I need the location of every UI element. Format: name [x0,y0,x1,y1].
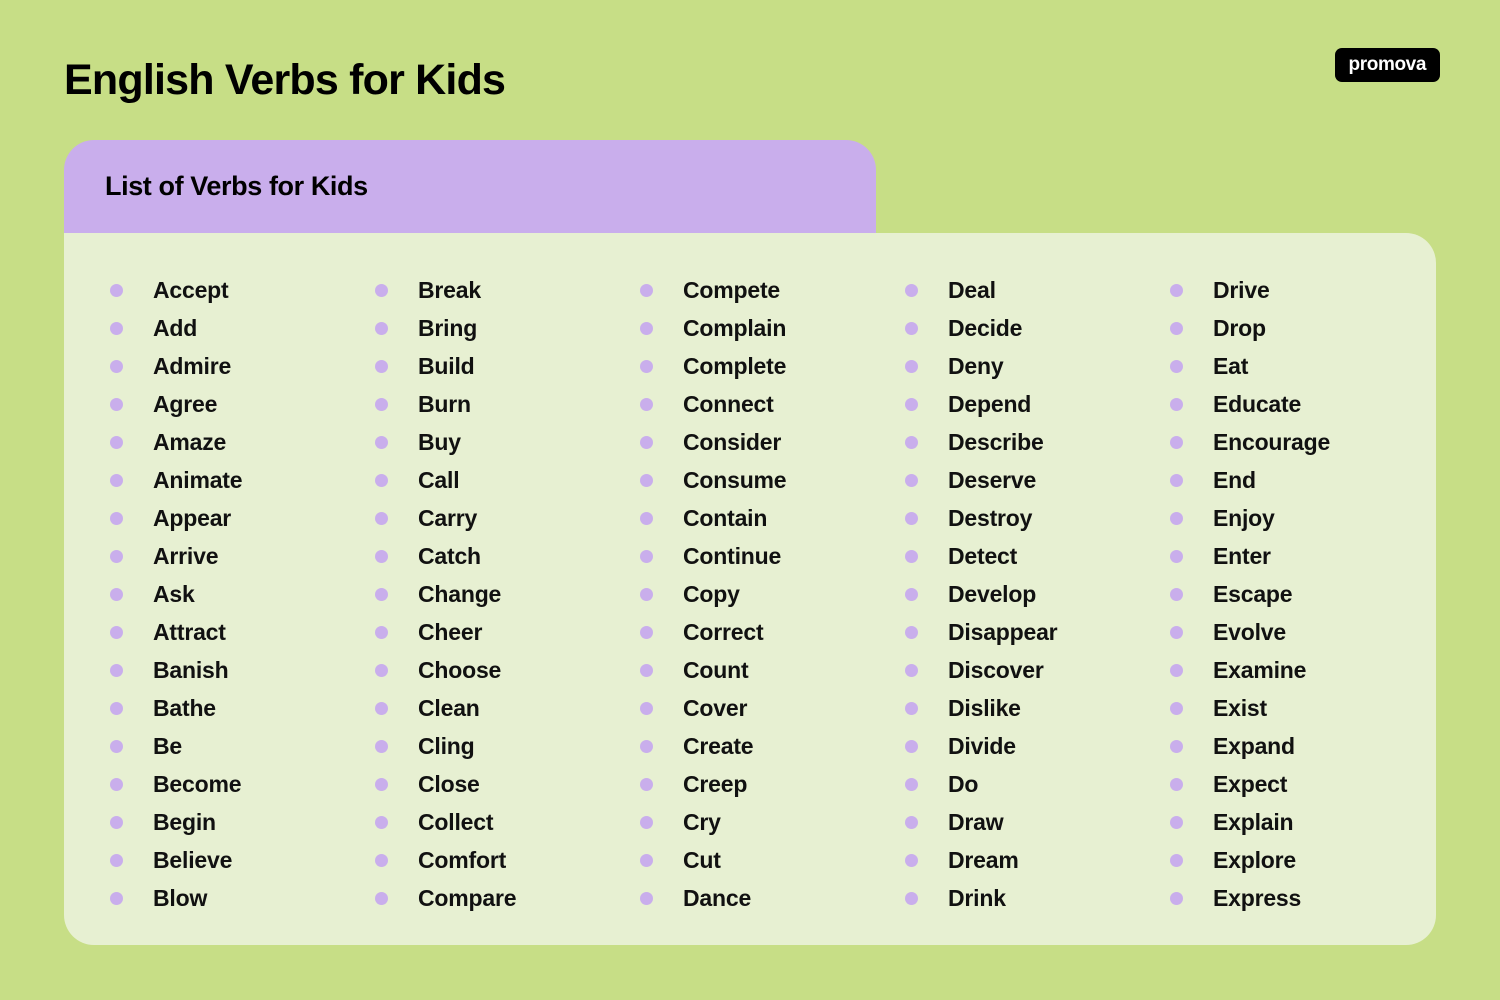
verb-list-item: Begin [110,803,375,841]
bullet-icon [1170,626,1183,639]
verb-label: Agree [153,393,217,416]
bullet-icon [640,284,653,297]
verb-list-item: Clean [375,689,640,727]
verb-label: Complain [683,317,786,340]
logo-text: promova [1349,54,1426,75]
verb-list-item: Complain [640,309,905,347]
bullet-icon [375,436,388,449]
verb-label: Connect [683,393,774,416]
verb-list-item: Arrive [110,537,375,575]
bullet-icon [905,740,918,753]
verb-label: Correct [683,621,763,644]
verb-list-item: Educate [1170,385,1435,423]
bullet-icon [375,702,388,715]
bullet-icon [1170,854,1183,867]
verb-list-item: Become [110,765,375,803]
verb-label: Attract [153,621,226,644]
bullet-icon [1170,740,1183,753]
verb-list-item: Cheer [375,613,640,651]
verb-label: Continue [683,545,781,568]
verb-list-item: Cling [375,727,640,765]
bullet-icon [110,322,123,335]
bullet-icon [905,854,918,867]
verb-label: Develop [948,583,1036,606]
verb-list-item: Catch [375,537,640,575]
verb-label: Build [418,355,475,378]
verb-label: Dance [683,887,751,910]
verb-list-item: Complete [640,347,905,385]
verb-label: Compare [418,887,516,910]
bullet-icon [905,588,918,601]
bullet-icon [640,892,653,905]
verb-label: Educate [1213,393,1301,416]
verb-list-item: Choose [375,651,640,689]
bullet-icon [640,550,653,563]
verb-label: Arrive [153,545,218,568]
verb-list-item: Depend [905,385,1170,423]
bullet-icon [110,512,123,525]
bullet-icon [640,664,653,677]
verb-list-item: Blow [110,879,375,917]
verb-label: Compete [683,279,780,302]
bullet-icon [640,626,653,639]
verb-list-item: Discover [905,651,1170,689]
verb-label: Change [418,583,501,606]
verb-list-item: Cover [640,689,905,727]
verb-list-item: Divide [905,727,1170,765]
bullet-icon [905,436,918,449]
verb-list-item: Disappear [905,613,1170,651]
verb-list-item: Escape [1170,575,1435,613]
verb-label: Collect [418,811,493,834]
bullet-icon [905,398,918,411]
bullet-icon [905,512,918,525]
verb-label: Dislike [948,697,1021,720]
bullet-icon [905,664,918,677]
verb-label: Enter [1213,545,1271,568]
bullet-icon [640,512,653,525]
bullet-icon [640,322,653,335]
verb-list-item: Drop [1170,309,1435,347]
bullet-icon [110,626,123,639]
bullet-icon [375,778,388,791]
verb-list-item: Deny [905,347,1170,385]
bullet-icon [905,778,918,791]
verb-list-item: Expect [1170,765,1435,803]
verb-label: Drop [1213,317,1266,340]
bullet-icon [110,360,123,373]
verb-column: BreakBringBuildBurnBuyCallCarryCatchChan… [375,271,640,945]
verb-list-item: Add [110,309,375,347]
verb-label: Be [153,735,182,758]
bullet-icon [375,360,388,373]
verb-label: Cover [683,697,747,720]
verb-list-item: Dream [905,841,1170,879]
verb-label: Buy [418,431,461,454]
verb-label: Call [418,469,459,492]
verb-list-item: Comfort [375,841,640,879]
verb-list-item: Collect [375,803,640,841]
verb-list-item: Count [640,651,905,689]
verb-label: Detect [948,545,1017,568]
bullet-icon [640,702,653,715]
verb-label: Cheer [418,621,482,644]
verb-label: Accept [153,279,229,302]
bullet-icon [110,550,123,563]
verb-label: Drink [948,887,1006,910]
verb-label: Depend [948,393,1031,416]
verb-list-item: Examine [1170,651,1435,689]
verb-label: Cut [683,849,721,872]
verb-label: Eat [1213,355,1248,378]
bullet-icon [1170,664,1183,677]
verb-label: Express [1213,887,1301,910]
verb-label: Count [683,659,748,682]
verb-list-item: Accept [110,271,375,309]
verb-list-item: Evolve [1170,613,1435,651]
verb-list-item: Compete [640,271,905,309]
verb-label: Decide [948,317,1022,340]
verb-list-item: Ask [110,575,375,613]
verb-label: Expand [1213,735,1295,758]
section-header-title: List of Verbs for Kids [105,171,368,202]
verb-label: Copy [683,583,740,606]
verb-list-item: End [1170,461,1435,499]
verb-label: Dream [948,849,1019,872]
verb-label: Clean [418,697,480,720]
verb-label: Carry [418,507,477,530]
verb-label: Add [153,317,197,340]
bullet-icon [1170,778,1183,791]
bullet-icon [375,398,388,411]
bullet-icon [640,474,653,487]
bullet-icon [110,588,123,601]
verb-list-item: Amaze [110,423,375,461]
verb-label: Break [418,279,481,302]
bullet-icon [905,626,918,639]
verb-label: Do [948,773,978,796]
verb-list-item: Decide [905,309,1170,347]
bullet-icon [640,778,653,791]
verb-list-item: Describe [905,423,1170,461]
verb-label: Deal [948,279,996,302]
verb-list-item: Contain [640,499,905,537]
verb-label: Ask [153,583,195,606]
verb-list-item: Cut [640,841,905,879]
verb-list-item: Animate [110,461,375,499]
verb-list-item: Deserve [905,461,1170,499]
verb-list-item: Enter [1170,537,1435,575]
bullet-icon [110,816,123,829]
bullet-icon [110,892,123,905]
bullet-icon [110,664,123,677]
bullet-icon [110,702,123,715]
verb-list-item: Consume [640,461,905,499]
bullet-icon [640,436,653,449]
verb-list-item: Bathe [110,689,375,727]
verb-list-item: Detect [905,537,1170,575]
verb-list-item: Carry [375,499,640,537]
bullet-icon [375,664,388,677]
bullet-icon [1170,588,1183,601]
bullet-icon [1170,702,1183,715]
verb-list-item: Deal [905,271,1170,309]
bullet-icon [905,816,918,829]
bullet-icon [640,854,653,867]
verb-label: Blow [153,887,207,910]
verb-label: Amaze [153,431,226,454]
bullet-icon [640,360,653,373]
verb-label: Explain [1213,811,1293,834]
bullet-icon [110,284,123,297]
bullet-icon [905,702,918,715]
verb-list-item: Connect [640,385,905,423]
page-title: English Verbs for Kids [64,56,505,105]
verb-column: CompeteComplainCompleteConnectConsiderCo… [640,271,905,945]
verb-list-item: Believe [110,841,375,879]
bullet-icon [1170,816,1183,829]
verb-label: Destroy [948,507,1032,530]
verb-list-item: Explain [1170,803,1435,841]
verb-list-item: Break [375,271,640,309]
verb-label: Admire [153,355,231,378]
verb-label: Evolve [1213,621,1286,644]
verb-label: Divide [948,735,1016,758]
verb-list-item: Do [905,765,1170,803]
verb-label: Believe [153,849,232,872]
verb-list-item: Express [1170,879,1435,917]
verb-list-item: Encourage [1170,423,1435,461]
bullet-icon [110,778,123,791]
bullet-icon [375,816,388,829]
verb-label: Catch [418,545,481,568]
verb-label: Choose [418,659,501,682]
verb-label: Examine [1213,659,1306,682]
verb-list-item: Draw [905,803,1170,841]
verb-label: Enjoy [1213,507,1275,530]
bullet-icon [110,854,123,867]
verb-list-item: Create [640,727,905,765]
verb-label: Explore [1213,849,1296,872]
verb-list-item: Admire [110,347,375,385]
bullet-icon [375,854,388,867]
verb-list-item: Attract [110,613,375,651]
verb-list-item: Be [110,727,375,765]
verb-label: Bring [418,317,477,340]
bullet-icon [375,588,388,601]
verb-label: Describe [948,431,1044,454]
bullet-icon [640,740,653,753]
verb-list-item: Close [375,765,640,803]
bullet-icon [905,360,918,373]
bullet-icon [375,284,388,297]
bullet-icon [110,474,123,487]
verb-label: Bathe [153,697,216,720]
bullet-icon [905,892,918,905]
verb-label: Animate [153,469,242,492]
verb-list-item: Explore [1170,841,1435,879]
bullet-icon [375,474,388,487]
verb-list-item: Correct [640,613,905,651]
verb-list-panel: AcceptAddAdmireAgreeAmazeAnimateAppearAr… [64,233,1436,945]
verb-column: AcceptAddAdmireAgreeAmazeAnimateAppearAr… [110,271,375,945]
bullet-icon [375,512,388,525]
verb-list-item: Change [375,575,640,613]
verb-label: Create [683,735,753,758]
bullet-icon [640,588,653,601]
verb-label: Deserve [948,469,1036,492]
verb-column: DealDecideDenyDependDescribeDeserveDestr… [905,271,1170,945]
verb-columns-container: AcceptAddAdmireAgreeAmazeAnimateAppearAr… [64,271,1436,945]
verb-label: Comfort [418,849,506,872]
verb-list-item: Drink [905,879,1170,917]
verb-label: Discover [948,659,1044,682]
verb-label: Draw [948,811,1003,834]
bullet-icon [110,398,123,411]
verb-list-item: Bring [375,309,640,347]
verb-list-item: Develop [905,575,1170,613]
bullet-icon [640,398,653,411]
verb-label: End [1213,469,1256,492]
verb-label: Contain [683,507,767,530]
bullet-icon [1170,398,1183,411]
verb-label: Escape [1213,583,1292,606]
verb-list-item: Appear [110,499,375,537]
verb-list-item: Banish [110,651,375,689]
verb-list-item: Creep [640,765,905,803]
bullet-icon [1170,322,1183,335]
bullet-icon [375,626,388,639]
verb-list-item: Cry [640,803,905,841]
bullet-icon [905,550,918,563]
bullet-icon [375,892,388,905]
verb-list-item: Consider [640,423,905,461]
bullet-icon [1170,436,1183,449]
bullet-icon [1170,550,1183,563]
verb-list-item: Destroy [905,499,1170,537]
verb-label: Creep [683,773,747,796]
bullet-icon [1170,892,1183,905]
verb-list-item: Expand [1170,727,1435,765]
verb-list-item: Compare [375,879,640,917]
verb-label: Burn [418,393,471,416]
verb-list-item: Eat [1170,347,1435,385]
verb-label: Complete [683,355,786,378]
verb-list-item: Buy [375,423,640,461]
verb-label: Disappear [948,621,1057,644]
verb-list-item: Continue [640,537,905,575]
verb-label: Begin [153,811,216,834]
bullet-icon [110,740,123,753]
verb-column: DriveDropEatEducateEncourageEndEnjoyEnte… [1170,271,1435,945]
bullet-icon [375,740,388,753]
verb-list-item: Drive [1170,271,1435,309]
bullet-icon [375,322,388,335]
verb-label: Appear [153,507,231,530]
verb-label: Drive [1213,279,1270,302]
bullet-icon [375,550,388,563]
verb-label: Deny [948,355,1003,378]
verb-list-item: Burn [375,385,640,423]
verb-label: Close [418,773,480,796]
verb-list-item: Enjoy [1170,499,1435,537]
verb-label: Consider [683,431,781,454]
verb-list-item: Dance [640,879,905,917]
bullet-icon [905,322,918,335]
verb-list-item: Call [375,461,640,499]
bullet-icon [1170,512,1183,525]
verb-list-item: Dislike [905,689,1170,727]
bullet-icon [640,816,653,829]
verb-list-item: Agree [110,385,375,423]
bullet-icon [905,474,918,487]
verb-label: Consume [683,469,786,492]
bullet-icon [110,436,123,449]
verb-label: Banish [153,659,228,682]
verb-list-item: Copy [640,575,905,613]
bullet-icon [1170,474,1183,487]
verb-list-item: Exist [1170,689,1435,727]
verb-label: Cry [683,811,721,834]
verb-label: Become [153,773,241,796]
verb-label: Exist [1213,697,1267,720]
bullet-icon [1170,284,1183,297]
bullet-icon [905,284,918,297]
promova-logo[interactable]: promova [1335,48,1440,82]
verb-label: Cling [418,735,475,758]
bullet-icon [1170,360,1183,373]
verb-list-item: Build [375,347,640,385]
verb-label: Encourage [1213,431,1330,454]
verb-label: Expect [1213,773,1287,796]
section-header-band: List of Verbs for Kids [64,140,876,233]
